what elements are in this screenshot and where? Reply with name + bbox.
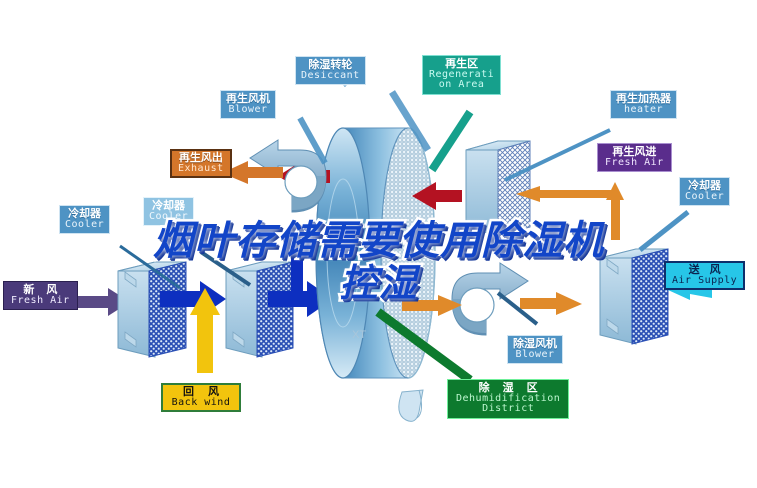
label-regeneration-area-en2: on Area [429,80,494,91]
label-cooler-mid[interactable]: 冷却器 Cooler [143,197,194,226]
label-fresh-air-inlet-cn: 新风 [11,284,70,296]
label-regeneration-area-cn: 再生区 [429,58,494,70]
label-dehumidification-district[interactable]: 除湿区 Dehumidification District [447,379,569,419]
label-desiccant-rotor-en: Desiccant [301,71,360,82]
watermark-text: XT [352,329,366,341]
label-cooler-mid-en: Cooler [149,212,188,223]
arrow-blower-to-cooler [520,292,582,315]
label-regen-heater[interactable]: 再生加热器 heater [610,90,677,119]
label-desiccant-rotor-cn: 除湿转轮 [301,59,360,71]
label-process-blower-en: Blower [513,350,557,361]
label-fresh-air-inlet-en: Fresh Air [11,296,70,307]
label-fresh-air-inlet[interactable]: 新风 Fresh Air [3,281,78,310]
label-regen-exhaust-cn: 再生风出 [178,152,224,164]
label-regen-blower-en: Blower [226,105,270,116]
label-regen-blower-cn: 再生风机 [226,93,270,105]
label-desiccant-rotor[interactable]: 除湿转轮 Desiccant [295,56,366,85]
label-air-supply-en: Air Supply [672,276,737,287]
label-air-supply[interactable]: 送风 Air Supply [664,261,745,290]
process-blower [452,263,528,335]
label-regen-fresh-air[interactable]: 再生风进 Fresh Air [597,143,672,172]
label-back-wind[interactable]: 回风 Back wind [161,383,241,412]
label-back-wind-en: Back wind [169,398,233,409]
cooler-unit-right [600,249,668,344]
label-process-blower[interactable]: 除湿风机 Blower [507,335,563,364]
rotor-blade-detail [399,390,423,421]
label-regen-heater-en: heater [616,105,671,116]
regen-heater-unit [466,141,530,236]
label-cooler-left-en: Cooler [65,220,104,231]
label-process-blower-cn: 除湿风机 [513,338,557,350]
label-regen-exhaust[interactable]: 再生风出 Exhaust [170,149,232,178]
label-regen-heater-cn: 再生加热器 [616,93,671,105]
label-cooler-right[interactable]: 冷却器 Cooler [679,177,730,206]
label-back-wind-cn: 回风 [169,386,233,398]
label-regen-fresh-air-cn: 再生风进 [605,146,664,158]
arrow-regen-fresh-air [516,182,624,240]
label-dehumidification-district-en2: District [456,404,560,415]
label-regeneration-area[interactable]: 再生区 Regenerati on Area [422,55,501,95]
label-cooler-left-cn: 冷却器 [65,208,104,220]
dehumidifier-schematic-illustration: XT [0,0,757,488]
label-cooler-left[interactable]: 冷却器 Cooler [59,205,110,234]
cooler-unit-left [118,262,186,357]
diagram-canvas: XT 除湿转轮 Desiccant 再生风机 Blower 再生区 Regene… [0,0,757,488]
label-air-supply-cn: 送风 [672,264,737,276]
label-regen-fresh-air-en: Fresh Air [605,158,664,169]
label-regen-blower[interactable]: 再生风机 Blower [220,90,276,119]
label-cooler-mid-cn: 冷却器 [149,200,188,212]
label-cooler-right-cn: 冷却器 [685,180,724,192]
label-regen-exhaust-en: Exhaust [178,164,224,175]
label-dehumidification-district-cn: 除湿区 [456,382,560,394]
label-cooler-right-en: Cooler [685,192,724,203]
